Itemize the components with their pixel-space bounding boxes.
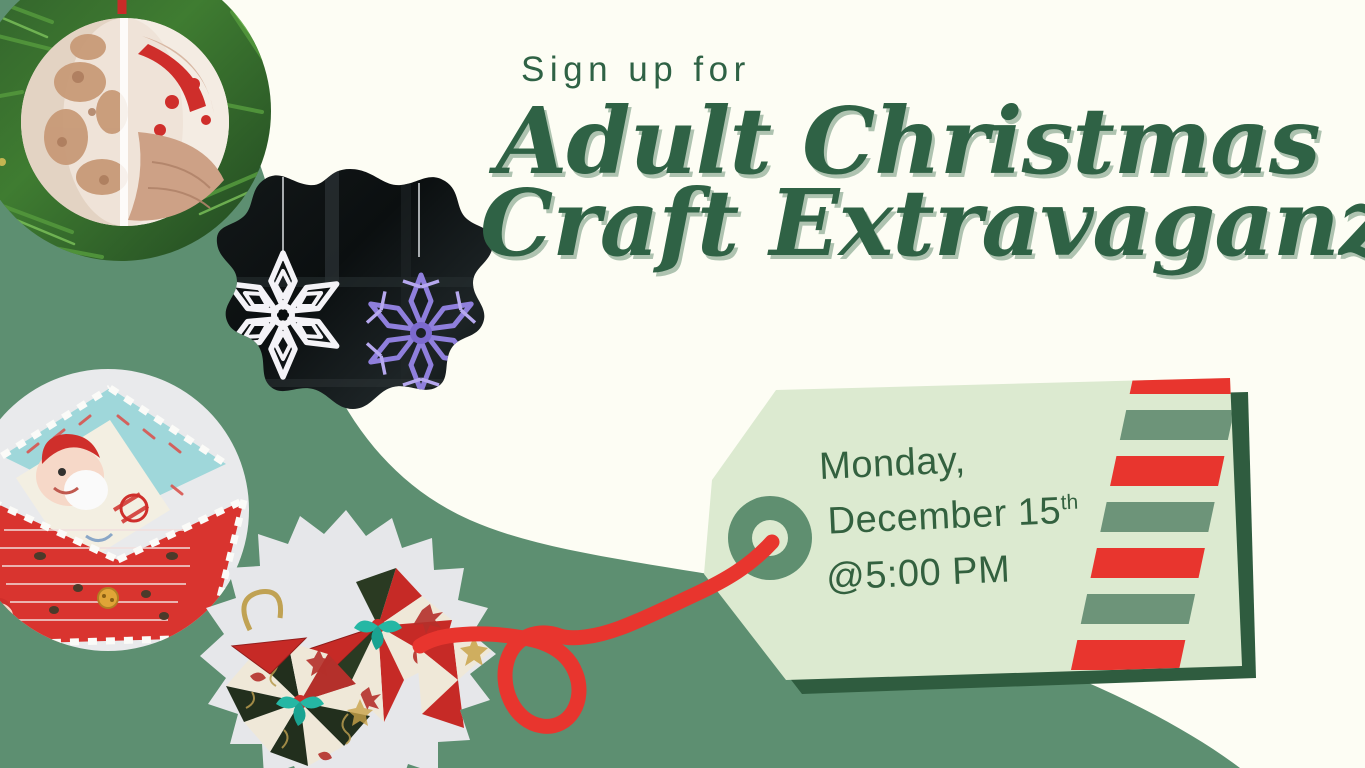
tag-date-ordinal: th [1060, 491, 1078, 515]
tag-date-month-day: December 15th [821, 484, 1080, 551]
kicker-text: Sign up for [521, 50, 751, 90]
poster-canvas: Sign up for Adult Christmas Craft Extrav… [0, 0, 1365, 768]
gift-tag-date-text: Monday, December 15th @5:00 PM [818, 428, 1082, 606]
tag-time: @5:00 PM [823, 539, 1082, 606]
page-title-line-2: Craft Extravaganza [480, 178, 1360, 268]
page-title: Adult Christmas Craft Extravaganza [480, 96, 1360, 268]
gift-tag-string [420, 470, 840, 768]
